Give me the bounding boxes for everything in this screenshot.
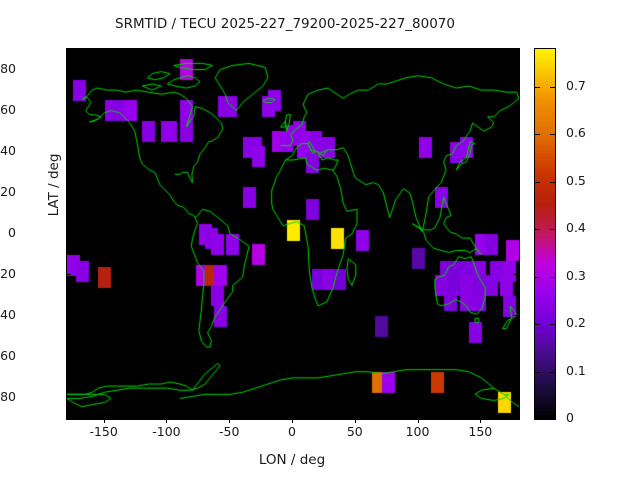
colorbar-tick-label: 0.1 — [566, 363, 586, 378]
y-tick-mark — [513, 151, 518, 152]
colorbar-tick-mark — [550, 229, 555, 230]
y-tick-label: 40 — [0, 143, 16, 158]
x-tick-mark — [480, 48, 481, 53]
x-tick-mark — [229, 418, 230, 423]
x-tick-mark — [292, 418, 293, 423]
y-tick-label: 60 — [0, 102, 16, 117]
y-tick-label: 80 — [0, 61, 16, 76]
colorbar-tick-mark — [550, 324, 555, 325]
colorbar-tick-label: 0.5 — [566, 173, 586, 188]
colorbar-tick-mark — [550, 372, 555, 373]
colorbar-tick-mark — [550, 87, 555, 88]
y-tick-label: 20 — [0, 184, 16, 199]
colorbar-tick-mark — [535, 87, 540, 88]
y-tick-mark — [66, 315, 71, 316]
y-tick-mark — [66, 233, 71, 234]
x-tick-mark — [166, 418, 167, 423]
x-tick-mark — [166, 48, 167, 53]
colorbar-tick-mark — [550, 277, 555, 278]
y-tick-mark — [513, 315, 518, 316]
y-axis-label: LAT / deg — [46, 125, 66, 245]
colorbar-tick-label: 0.3 — [566, 268, 586, 283]
y-tick-label: -60 — [0, 348, 16, 363]
colorbar-tick-label: 0.6 — [566, 125, 586, 140]
map-plot-area[interactable] — [66, 48, 520, 420]
colorbar-tick-label: 0.4 — [566, 220, 586, 235]
colorbar-tick-label: 0 — [566, 410, 574, 425]
colorbar-tick-mark — [535, 372, 540, 373]
colorbar-tick-label: 0.7 — [566, 78, 586, 93]
x-tick-label: 50 — [325, 424, 385, 439]
y-tick-mark — [66, 397, 71, 398]
x-tick-label: 150 — [450, 424, 510, 439]
colorbar-tick-mark — [550, 419, 555, 420]
x-tick-label: -100 — [136, 424, 196, 439]
y-tick-mark — [513, 233, 518, 234]
y-tick-mark — [513, 274, 518, 275]
x-tick-label: -150 — [74, 424, 134, 439]
x-tick-mark — [355, 48, 356, 53]
x-tick-mark — [480, 418, 481, 423]
y-tick-mark — [513, 192, 518, 193]
y-tick-mark — [66, 110, 71, 111]
y-tick-mark — [513, 110, 518, 111]
colorbar-tick-mark — [535, 229, 540, 230]
y-tick-mark — [66, 192, 71, 193]
colorbar-tick-mark — [550, 182, 555, 183]
y-tick-label: -80 — [0, 389, 16, 404]
colorbar-tick-mark — [535, 182, 540, 183]
x-tick-mark — [292, 48, 293, 53]
chart-title: SRMTID / TECU 2025-227_79200-2025-227_80… — [0, 16, 570, 32]
heatmap-canvas — [67, 49, 519, 419]
x-tick-mark — [355, 418, 356, 423]
colorbar-gradient — [535, 49, 555, 419]
x-tick-mark — [229, 48, 230, 53]
y-tick-label: -40 — [0, 307, 16, 322]
x-tick-mark — [104, 418, 105, 423]
figure-canvas: SRMTID / TECU 2025-227_79200-2025-227_80… — [0, 0, 640, 480]
y-tick-mark — [66, 274, 71, 275]
y-tick-label: 0 — [0, 225, 16, 240]
colorbar-tick-label: 0.2 — [566, 315, 586, 330]
colorbar-tick-mark — [550, 134, 555, 135]
colorbar-tick-mark — [535, 324, 540, 325]
colorbar-tick-mark — [535, 419, 540, 420]
x-tick-label: -50 — [199, 424, 259, 439]
y-tick-mark — [513, 69, 518, 70]
x-tick-mark — [104, 48, 105, 53]
x-tick-label: 0 — [262, 424, 322, 439]
y-tick-mark — [66, 69, 71, 70]
colorbar[interactable] — [534, 48, 556, 420]
x-tick-label: 100 — [388, 424, 448, 439]
colorbar-tick-mark — [535, 277, 540, 278]
x-tick-mark — [418, 48, 419, 53]
y-tick-mark — [513, 397, 518, 398]
x-tick-mark — [418, 418, 419, 423]
y-tick-mark — [513, 356, 518, 357]
y-tick-mark — [66, 356, 71, 357]
colorbar-tick-mark — [535, 134, 540, 135]
x-axis-label: LON / deg — [66, 452, 518, 468]
y-tick-label: -20 — [0, 266, 16, 281]
y-tick-mark — [66, 151, 71, 152]
